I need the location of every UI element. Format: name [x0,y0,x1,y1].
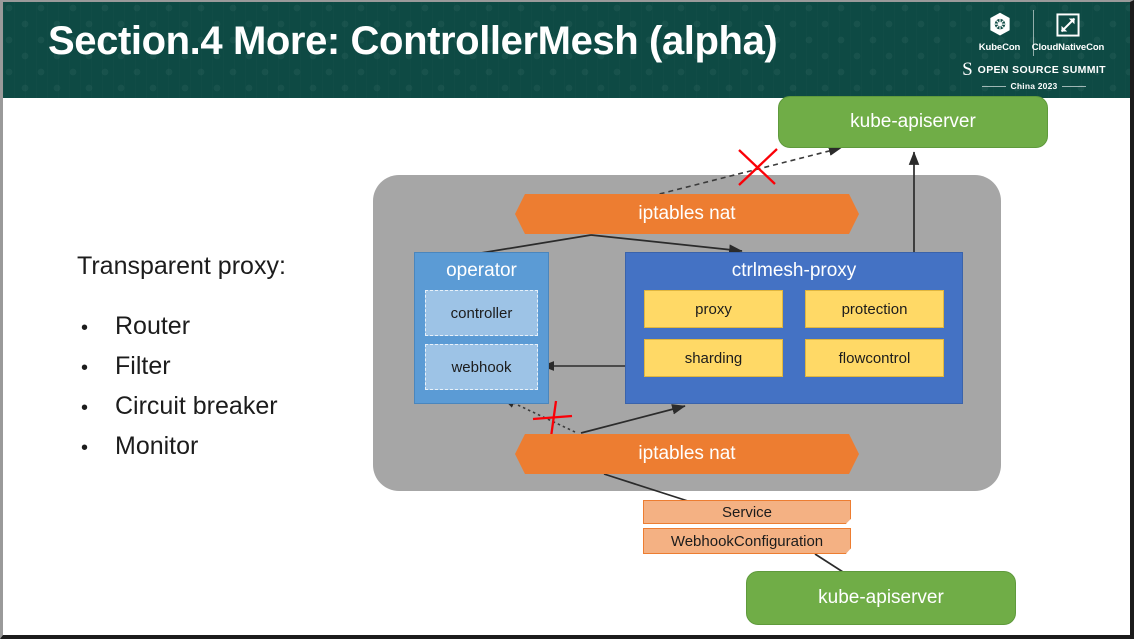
feature-flowcontrol[interactable]: flowcontrol [805,339,944,377]
feature-protection[interactable]: protection [805,290,944,328]
ctrlmesh-proxy-box[interactable]: ctrlmesh-proxy proxy protection sharding… [625,252,963,404]
operator-webhook[interactable]: webhook [425,344,538,390]
architecture-diagram: kube-apiserver iptables nat operator con… [3,2,1134,639]
ctrlmesh-proxy-title: ctrlmesh-proxy [626,253,962,284]
kube-apiserver-bottom[interactable]: kube-apiserver [746,571,1016,625]
feature-proxy[interactable]: proxy [644,290,783,328]
webhookconfiguration-resource[interactable]: WebhookConfiguration [643,528,851,554]
slide: Section.4 More: ControllerMesh (alpha) [0,0,1134,639]
kube-apiserver-top[interactable]: kube-apiserver [778,96,1048,148]
connector-webhookconfig-to-apiserver [815,554,843,572]
ctrlmesh-feature-grid: proxy protection sharding flowcontrol [626,284,962,377]
operator-box[interactable]: operator controller webhook [414,252,549,404]
operator-controller[interactable]: controller [425,290,538,336]
service-resource[interactable]: Service [643,500,851,524]
feature-sharding[interactable]: sharding [644,339,783,377]
iptables-nat-bottom[interactable]: iptables nat [515,434,859,474]
operator-title: operator [415,253,548,284]
iptables-nat-top[interactable]: iptables nat [515,194,859,234]
